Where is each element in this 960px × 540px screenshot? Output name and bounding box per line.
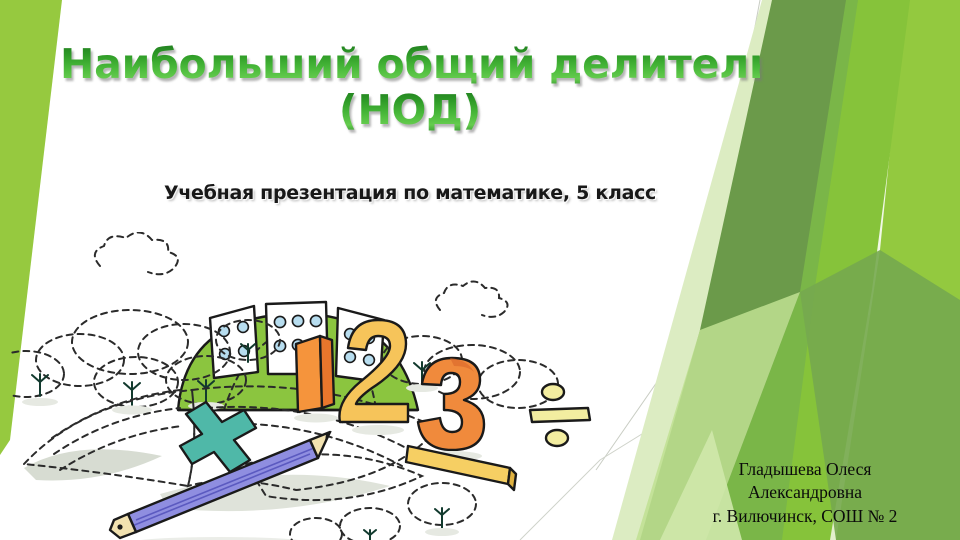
- author-credit: Гладышева Олеся Александровна г. Вилючин…: [664, 458, 946, 528]
- plus-sign-icon: [180, 402, 256, 472]
- slide-title: Наибольший общий делитель (НОД): [60, 42, 760, 134]
- author-location-line: г. Вилючинск, СОШ № 2: [664, 505, 946, 528]
- slide-subtitle: Учебная презентация по математике, 5 кла…: [60, 182, 760, 204]
- division-sign-icon: [530, 384, 590, 446]
- book-page-shadow: [24, 449, 162, 480]
- digit-three: [418, 358, 484, 461]
- presentation-slide: .dash { stroke:#2b2b2b; stroke-width:2; …: [0, 0, 960, 540]
- author-name-line-2: Александровна: [664, 481, 946, 504]
- title-line-1: Наибольший общий делитель: [60, 42, 760, 88]
- author-name-line-1: Гладышева Олеся: [664, 458, 946, 481]
- building: [210, 306, 258, 378]
- title-line-2: (НОД): [60, 88, 760, 134]
- math-illustration: .dash { stroke:#2b2b2b; stroke-width:2; …: [10, 232, 630, 540]
